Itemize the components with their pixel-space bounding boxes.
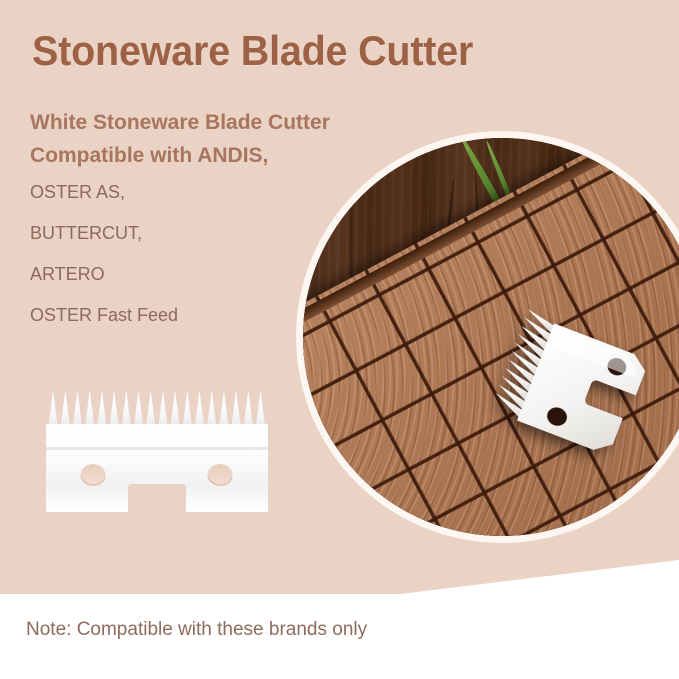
product-blade-illustration [46,384,268,514]
photo-inset-ring [296,131,679,543]
photo-inset [303,138,679,536]
description-line-strong: White Stoneware Blade Cutter [30,106,430,139]
blade-body [46,424,268,512]
compatibility-note: Note: Compatible with these brands only [26,619,367,641]
product-infographic: Stoneware Blade Cutter White Stoneware B… [0,0,679,679]
page-title: Stoneware Blade Cutter [32,28,473,74]
